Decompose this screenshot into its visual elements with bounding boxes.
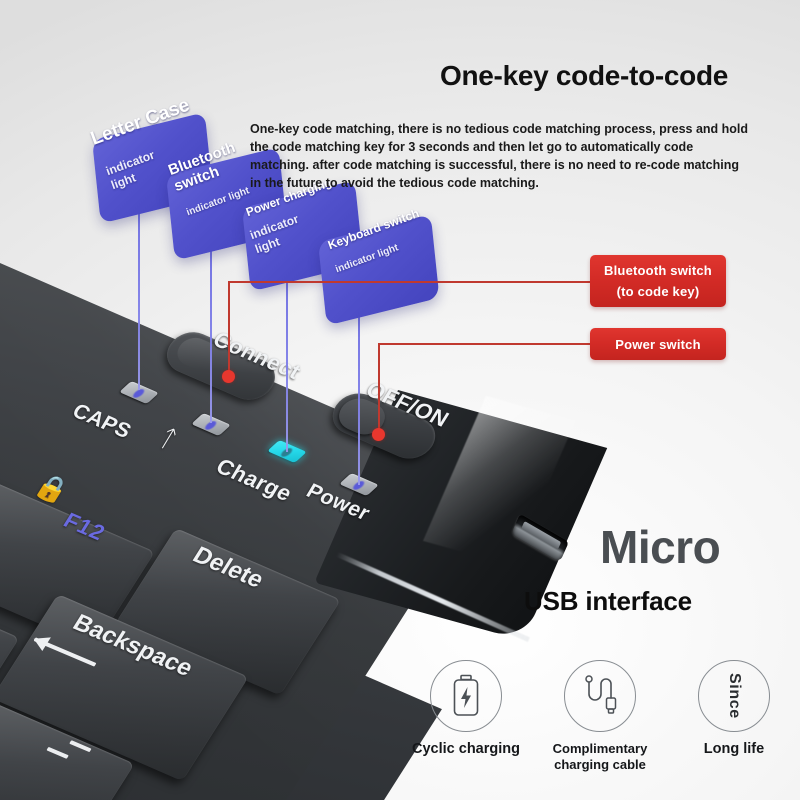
red-leader-power-vertical: [378, 343, 380, 435]
feature-circle-3: Since: [698, 660, 770, 732]
battery-charging-icon: [451, 674, 481, 718]
feature-complimentary-cable: Complimentarycharging cable: [538, 660, 662, 790]
red-leader-bluetooth-vertical: [228, 281, 230, 377]
leader-line-power-charging: [286, 274, 288, 452]
red-marker-connect-button: [222, 370, 235, 383]
since-text-icon: Since: [725, 673, 743, 719]
page-title: One-key code-to-code: [440, 60, 728, 92]
feature-cyclic-charging: Cyclic charging: [404, 660, 528, 790]
red-leader-power-horizontal: [378, 343, 590, 345]
usb-interface-label: USB interface: [524, 586, 692, 617]
callout-power-line1: Power switch: [615, 334, 700, 355]
leader-line-keyboard-switch: [358, 307, 360, 485]
callout-power-switch: Power switch: [590, 328, 726, 360]
leader-line-bluetooth: [210, 243, 212, 423]
callout-bluetooth-switch: Bluetooth switch (to code key): [590, 255, 726, 307]
callout-bluetooth-line1: Bluetooth switch: [604, 260, 712, 281]
feature-label-3: Long life: [704, 741, 764, 758]
body-paragraph: One-key code matching, there is no tedio…: [250, 120, 750, 192]
feature-circle-2: [564, 660, 636, 732]
feature-label-1: Cyclic charging: [412, 741, 520, 758]
feature-row: Cyclic charging Complimentarycharging ca…: [404, 660, 796, 790]
red-marker-power-switch: [372, 428, 385, 441]
micro-label: Micro: [600, 520, 720, 574]
callout-bluetooth-line2: (to code key): [617, 281, 700, 302]
red-leader-bluetooth-horizontal: [228, 281, 590, 283]
feature-circle-1: [430, 660, 502, 732]
feature-long-life: Since Long life: [672, 660, 796, 790]
leader-line-letter-case: [138, 208, 140, 390]
product-infographic: 🔒 F12 Delete Backspace CAPS ᛏ Charge Pow…: [0, 0, 800, 800]
usb-cable-icon: [582, 674, 618, 718]
feature-label-2: Complimentarycharging cable: [553, 741, 648, 773]
